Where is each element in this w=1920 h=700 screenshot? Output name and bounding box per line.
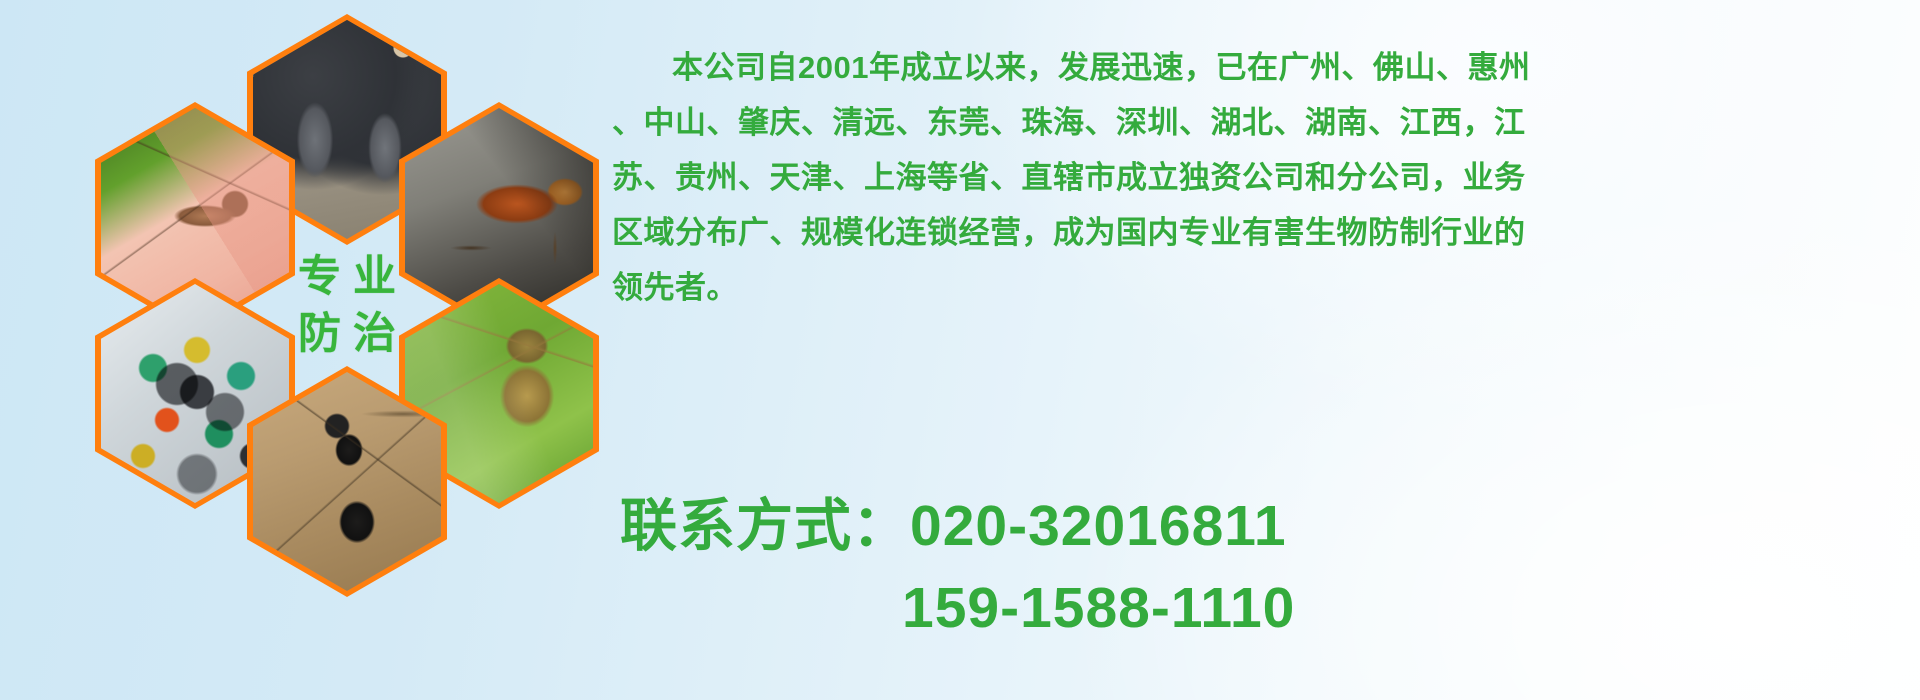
hex-inner-ant [253,372,441,591]
honeycomb-photo-collage: 专业 防治 [95,10,595,585]
description-line-4: 区域分布广、规模化连锁经营，成为国内专业有害生物防制行业的 [612,205,1912,260]
description-line-3: 苏、贵州、天津、上海等省、直辖市成立独资公司和分公司，业务 [612,150,1912,205]
company-description: 本公司自2001年成立以来，发展迅速，已在广州、佛山、惠州 、中山、肇庆、清远、… [612,40,1912,315]
contact-phone-landline[interactable]: 联系方式：020-32016811 [620,485,1920,567]
pest-control-banner: 专业 防治 本公司自2001年成立以来，发展迅速，已在广州、佛山、惠州 、中山、… [0,0,1920,700]
ant-photo-icon [253,372,441,591]
center-title-line1: 专业 [286,256,408,299]
contact-phone-mobile[interactable]: 159-1588-1110 [620,567,1920,649]
description-line-1: 本公司自2001年成立以来，发展迅速，已在广州、佛山、惠州 [612,40,1912,95]
description-line-2: 、中山、肇庆、清远、东莞、珠海、深圳、湖北、湖南、江西，江 [612,95,1912,150]
contact-block: 联系方式：020-32016811 159-1588-1110 [620,485,1920,649]
center-title-line2: 防治 [286,313,408,356]
description-line-5: 领先者。 [612,260,1912,315]
